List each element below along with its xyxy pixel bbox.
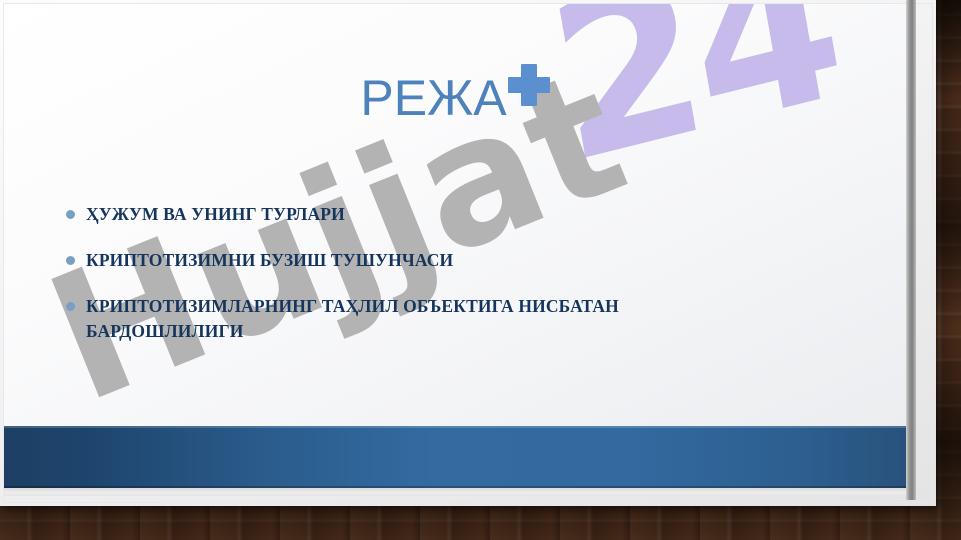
list-item-label: КРИПТОТИЗИМНИ БУЗИШ ТУШУНЧАСИ (86, 248, 453, 273)
slide-canvas: 24 Hujjat РЕЖА ҲУЖУМ ВА УНИНГ ТУРЛАРИ КР… (4, 4, 906, 496)
slide-footer-band: Hujjat (4, 426, 906, 488)
bullet-dot-icon (66, 302, 75, 311)
presentation-stage: 24 Hujjat РЕЖА ҲУЖУМ ВА УНИНГ ТУРЛАРИ КР… (0, 0, 961, 540)
bullet-list: ҲУЖУМ ВА УНИНГ ТУРЛАРИ КРИПТОТИЗИМНИ БУЗ… (66, 202, 766, 365)
bullet-dot-icon (66, 256, 75, 265)
page-title-text: РЕЖА (360, 70, 506, 126)
list-item: ҲУЖУМ ВА УНИНГ ТУРЛАРИ (66, 202, 766, 227)
frame-right-shadow-bar (906, 0, 916, 500)
slide-title: РЕЖА (4, 64, 906, 127)
slide-bottom-margin (4, 488, 906, 496)
bullet-dot-icon (66, 210, 75, 219)
list-item: КРИПТОТИЗИМЛАРНИНГ ТАҲЛИЛ ОБЪЕКТИГА НИСБ… (66, 294, 766, 344)
list-item-label: КРИПТОТИЗИМЛАРНИНГ ТАҲЛИЛ ОБЪЕКТИГА НИСБ… (86, 294, 766, 344)
watermark-brand-hujjat-overlay: Hujjat (24, 426, 650, 444)
list-item-label: ҲУЖУМ ВА УНИНГ ТУРЛАРИ (86, 202, 345, 227)
slide-frame: 24 Hujjat РЕЖА ҲУЖУМ ВА УНИНГ ТУРЛАРИ КР… (0, 0, 936, 506)
list-item: КРИПТОТИЗИМНИ БУЗИШ ТУШУНЧАСИ (66, 248, 766, 273)
plus-icon (508, 64, 550, 106)
